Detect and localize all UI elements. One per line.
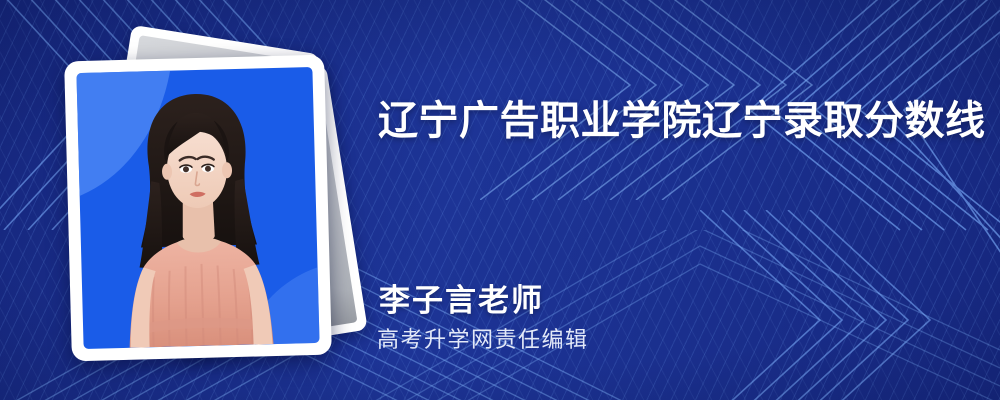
portrait-illustration xyxy=(76,67,319,349)
author-name: 李子言老师 xyxy=(379,275,544,320)
promo-banner: 辽宁广告职业学院辽宁录取分数线 李子言老师 高考升学网责任编辑 xyxy=(0,0,1000,400)
author-portrait-photo xyxy=(76,67,319,349)
photo-card-front xyxy=(64,55,332,362)
author-role: 高考升学网责任编辑 xyxy=(377,322,589,354)
page-title: 辽宁广告职业学院辽宁录取分数线 xyxy=(378,98,986,144)
photo-stack xyxy=(58,30,358,370)
